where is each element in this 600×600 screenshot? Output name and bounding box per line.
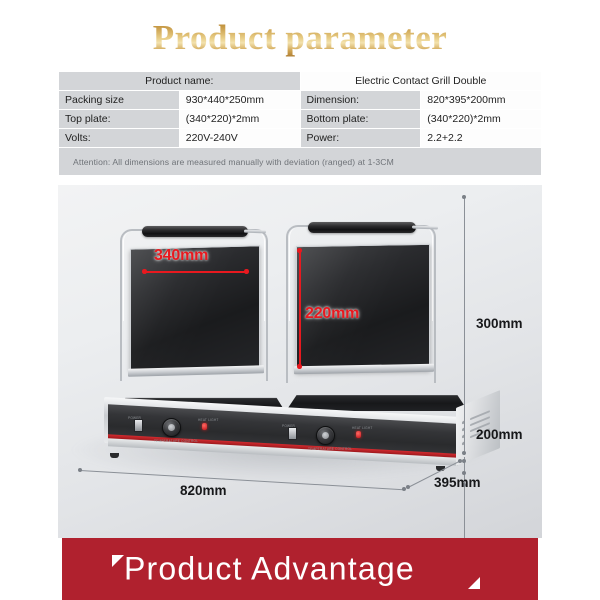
dimension-label-340mm: 340mm	[154, 247, 208, 265]
banner-title: Product Advantage	[124, 551, 415, 588]
top-plate-value: (340*220)*2mm	[179, 110, 300, 129]
legend-brand-right: TEMPERATURE CONTROL	[308, 447, 352, 451]
dimension-label-220mm: 220mm	[305, 305, 359, 323]
legend-heat-left: HEAT LIGHT	[198, 418, 218, 422]
dimension-line-200	[464, 457, 465, 538]
dimension-endpoint-dot	[78, 468, 82, 472]
dimension-endpoint-dot	[462, 459, 466, 463]
bottom-plate-label: Bottom plate:	[300, 110, 421, 129]
heat-indicator-left	[202, 423, 207, 430]
power-switch-right[interactable]	[288, 427, 297, 440]
heat-indicator-right	[356, 431, 361, 438]
table-row-header: Product name: Electric Contact Grill Dou…	[59, 72, 542, 91]
bottom-plate-value: (340*220)*2mm	[421, 110, 542, 129]
product-spec-page: Product parameter Product name: Electric…	[0, 0, 600, 600]
dimension-endpoint-dot	[406, 485, 410, 489]
legend-heat-right: HEAT LIGHT	[352, 426, 372, 430]
packing-size-value: 930*440*250mm	[179, 91, 300, 110]
packing-size-label: Packing size	[59, 91, 180, 110]
dimension-endpoint-dot	[462, 451, 466, 455]
dimension-endpoint-dot	[458, 459, 462, 463]
dimension-endpoint-dot	[244, 269, 249, 274]
dimension-endpoint-dot	[297, 248, 302, 253]
table-row-attention: Attention: All dimensions are measured m…	[59, 148, 542, 176]
power-switch-left[interactable]	[134, 419, 143, 432]
dimension-endpoint-dot	[297, 364, 302, 369]
dimension-label-395mm: 395mm	[434, 475, 481, 490]
handle-left	[142, 226, 248, 237]
table-row: Top plate: (340*220)*2mm Bottom plate: (…	[59, 110, 542, 129]
dimension-line-300	[464, 197, 465, 455]
dimension-value: 820*395*200mm	[421, 91, 542, 110]
temperature-knob-left[interactable]	[162, 418, 181, 437]
volts-label: Volts:	[59, 129, 180, 148]
volts-value: 220V-240V	[179, 129, 300, 148]
corner-accent-bottom-right-icon	[468, 577, 480, 589]
dimension-label: Dimension:	[300, 91, 421, 110]
table-row: Volts: 220V-240V Power: 2.2+2.2	[59, 129, 542, 148]
handle-right	[308, 222, 416, 233]
dimension-label-300mm: 300mm	[476, 316, 523, 331]
attention-note: Attention: All dimensions are measured m…	[59, 148, 542, 176]
page-title: Product parameter	[153, 18, 448, 58]
dimension-label-200mm: 200mm	[476, 427, 523, 442]
corner-accent-top-left-icon	[112, 555, 124, 567]
product-name-value: Electric Contact Grill Double	[300, 72, 542, 91]
dimension-line-220	[299, 251, 301, 367]
power-value: 2.2+2.2	[421, 129, 542, 148]
legend-brand-left: TEMPERATURE CONTROL	[154, 439, 198, 443]
page-title-container: Product parameter	[0, 18, 600, 58]
dimension-endpoint-dot	[462, 195, 466, 199]
table-row: Packing size 930*440*250mm Dimension: 82…	[59, 91, 542, 110]
dimension-line-340	[144, 271, 248, 273]
product-photo: POWER HEAT LIGHT TEMPERATURE CONTROL POW…	[58, 185, 542, 538]
product-name-label: Product name:	[59, 72, 301, 91]
legend-power-right: POWER	[282, 424, 295, 428]
foot	[110, 453, 119, 458]
dimension-endpoint-dot	[142, 269, 147, 274]
top-plate-label: Top plate:	[59, 110, 180, 129]
legend-power-left: POWER	[128, 416, 141, 420]
temperature-knob-right[interactable]	[316, 426, 335, 445]
dimension-label-820mm: 820mm	[180, 483, 227, 498]
specification-table: Product name: Electric Contact Grill Dou…	[58, 71, 542, 176]
product-advantage-banner: Product Advantage	[62, 538, 538, 600]
power-label: Power:	[300, 129, 421, 148]
